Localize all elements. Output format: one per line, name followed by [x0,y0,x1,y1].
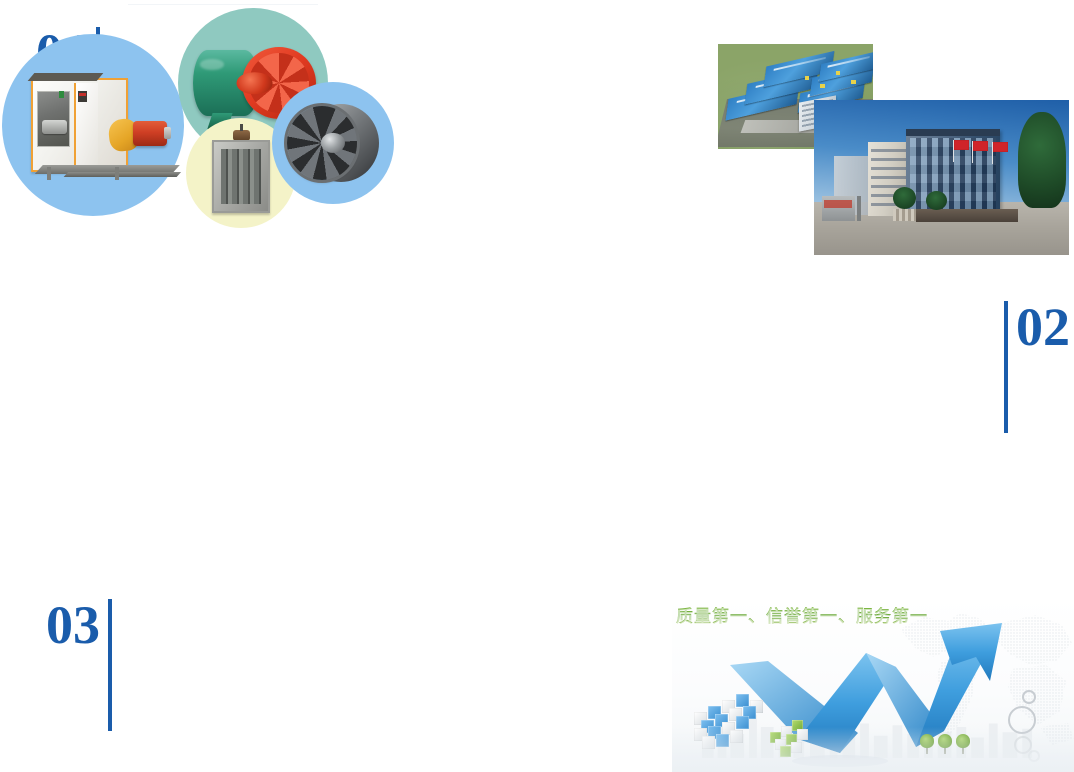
aerial-yellow-marker [836,71,841,75]
indicator-light [59,91,64,98]
tree [1018,112,1066,208]
steel-rail [64,172,181,177]
aerial-yellow-marker [820,84,825,88]
section-number-label: 03 [46,598,100,652]
damper-blades [221,149,261,204]
section-rule [108,599,112,731]
cabinet-roof [28,73,103,81]
shrub [893,187,916,209]
cabinet-inlet [37,91,70,147]
cabinet-fan-wheel [42,120,66,135]
office-building-image [814,100,1069,255]
page-canvas: 01 02 03 [0,0,1074,772]
damper-frame [212,140,269,213]
top-hairline-divider [128,4,318,5]
cabinet-fan-illustration [31,78,166,173]
gate-post [857,196,861,221]
aerial-yellow-marker [805,76,810,80]
frame-leg [115,167,119,180]
product-circle-cabinet-fan[interactable] [2,34,184,216]
flag-icon [993,142,1008,152]
section-number-label: 02 [1016,300,1070,354]
flag-icon [973,141,988,151]
shrub [926,191,946,210]
perimeter-wall [916,209,1018,223]
gatehouse [822,196,855,221]
flag-icon [954,140,969,150]
electric-motor [133,121,167,146]
stacked-crates [893,209,916,221]
section-rule [1004,301,1008,433]
aerial-yellow-marker [851,80,856,84]
section-marker-02[interactable]: 02 [1004,300,1070,433]
air-damper-illustration [212,140,269,213]
frame-leg [47,167,51,180]
section-marker-03[interactable]: 03 [46,598,112,731]
banner-reflection [672,727,1074,772]
product-circle-impeller[interactable] [272,82,394,204]
impeller-illustration [287,104,380,182]
impeller-hub [236,72,273,94]
banner-slogan: 质量第一、信誉第一、服务第一 [676,602,966,627]
control-box [78,91,87,103]
growth-arrow-banner: 质量第一、信誉第一、服务第一 [672,597,1074,772]
